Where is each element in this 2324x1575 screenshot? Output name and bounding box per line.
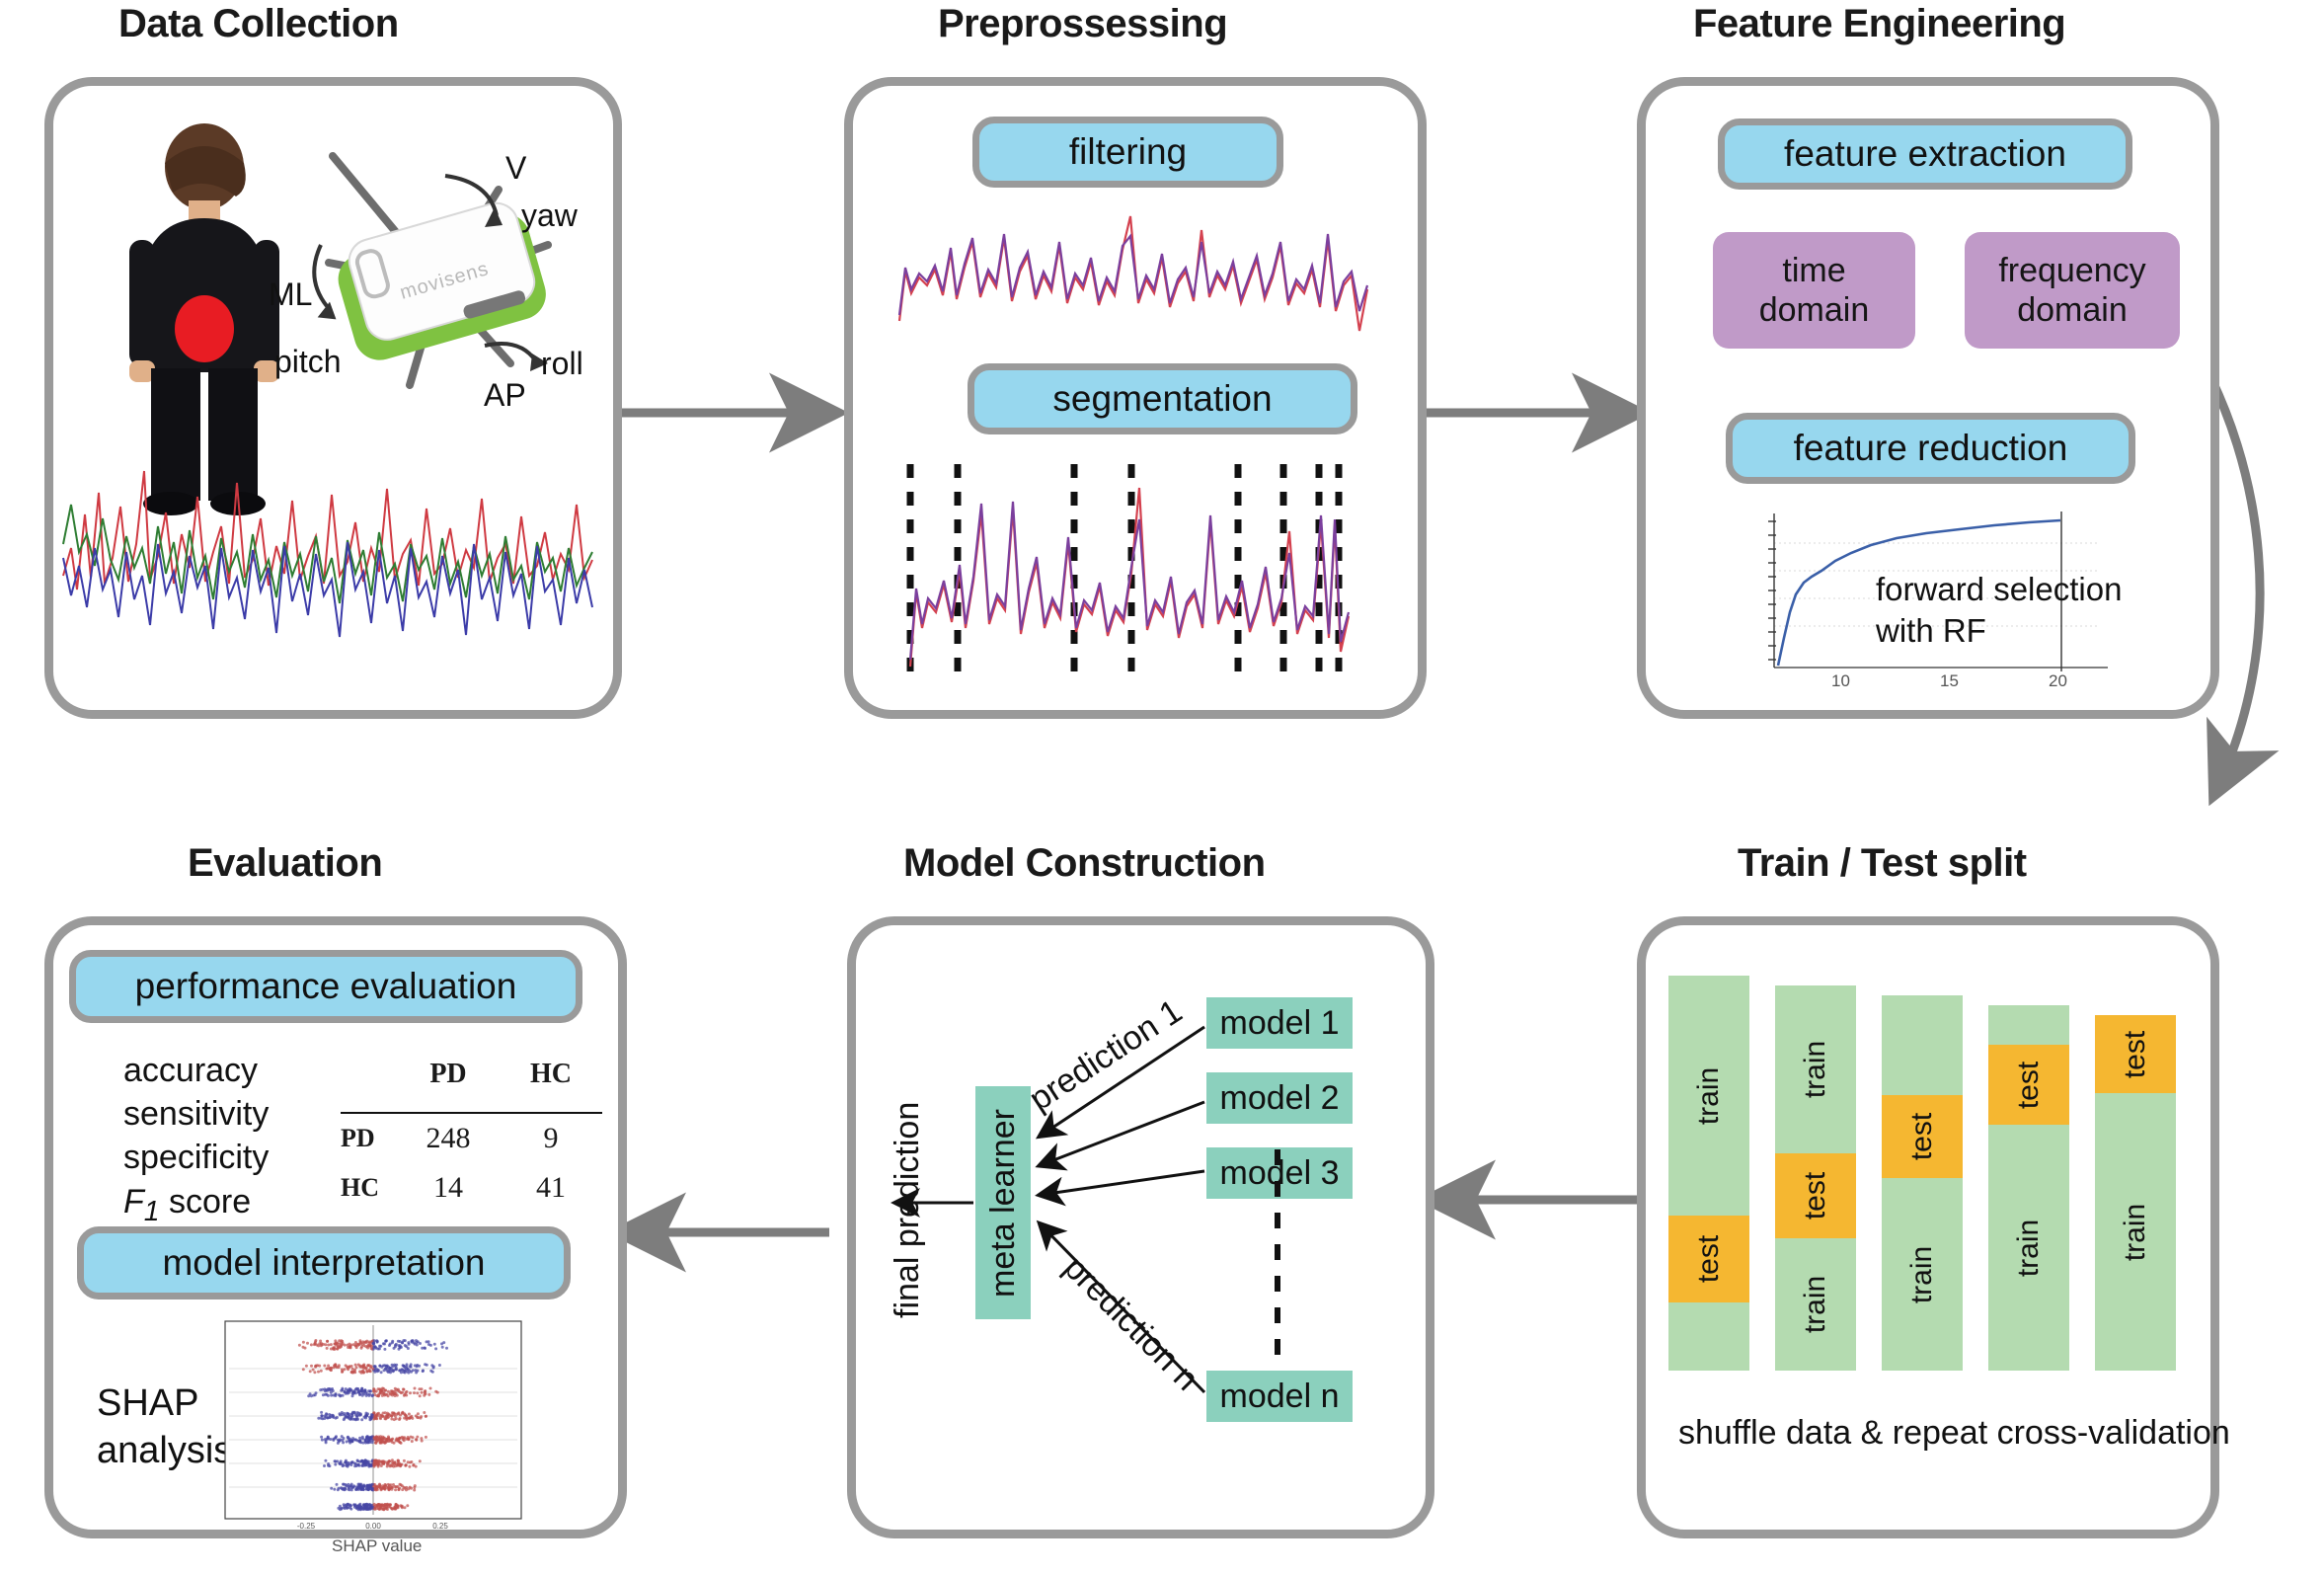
model-construction-arrows: prediction 1 prediction n [847,916,1434,1538]
metric-list: accuracy sensitivity specificity F1 scor… [123,1049,269,1229]
pill-performance-evaluation[interactable]: performance evaluation [69,950,582,1023]
svg-text:prediction n: prediction n [1056,1249,1205,1398]
shap-axis-label: SHAP value [332,1536,422,1556]
cv-segment-train [1882,995,1963,1095]
forward-selection-caption-line1: forward selection [1876,571,2122,608]
cv-segment-train: train [1668,976,1749,1216]
metric-f1-score: F1 score [123,1180,269,1230]
cv-caption: shuffle data & repeat cross-validation [1678,1414,2230,1453]
cv-segment-test: test [1668,1216,1749,1302]
segmented-signal-plot [889,454,1392,686]
box-time-domain[interactable]: time domain [1713,232,1915,349]
panel-title-feature-engineering: Feature Engineering [1693,2,2065,46]
cm-col-pd: PD [397,1059,500,1096]
table-row: PD 248 9 [341,1113,602,1163]
cv-segment-train: train [1988,1125,2069,1371]
panel-title-model-construction: Model Construction [903,841,1266,886]
axis-label-roll: roll [541,346,583,382]
pill-feature-reduction[interactable]: feature reduction [1726,413,2135,484]
xtick-15: 15 [1940,671,1959,691]
f1-suffix: score [169,1183,251,1221]
axis-label-ml: ML [269,276,312,313]
cv-segment-label: train [1799,1041,1832,1098]
cm-cell-pd-hc: 9 [500,1113,602,1163]
cross-validation-bars: traintesttraintesttraintesttraintesttrai… [1668,976,2192,1371]
metric-sensitivity: sensitivity [123,1092,269,1136]
shap-label-line2: analysis [97,1430,232,1472]
cv-segment-train: train [1775,1238,1856,1371]
axis-label-ap: AP [484,377,526,414]
cm-cell-hc-hc: 41 [500,1163,602,1213]
cv-segment-label: train [2119,1203,2152,1260]
cv-segment-train: train [1882,1178,1963,1371]
pipeline-diagram: Data Collection movisens [0,0,2324,1575]
box-frequency-domain[interactable]: frequency domain [1965,232,2180,349]
time-domain-line2: domain [1759,290,1870,330]
table-row: HC 14 41 [341,1163,602,1213]
cv-segment-test: test [1775,1153,1856,1238]
raw-signal-plot [59,449,602,686]
panel-title-evaluation: Evaluation [188,841,382,886]
svg-text:0.00: 0.00 [365,1522,381,1531]
time-domain-line1: time [1759,251,1870,290]
cv-segment-train [1988,1005,2069,1045]
cv-segment-train [1668,1302,1749,1371]
filtered-signal-plot [893,212,1387,355]
cv-fold-3: testtrain [1882,995,1963,1371]
svg-text:0.25: 0.25 [432,1522,448,1531]
panel-title-preprocessing: Preprossessing [938,2,1227,46]
cv-fold-2: traintesttrain [1775,985,1856,1371]
cv-segment-label: test [1692,1235,1726,1283]
cv-fold-1: traintest [1668,976,1749,1371]
shap-beeswarm-plot: -0.250.000.25 [225,1321,521,1534]
metric-accuracy: accuracy [123,1049,269,1092]
cv-segment-test: test [1988,1045,2069,1125]
cv-segment-label: train [1692,1066,1726,1124]
cv-segment-label: test [1799,1172,1832,1220]
cm-row-hc: HC [341,1163,397,1213]
xtick-10: 10 [1831,671,1850,691]
cv-segment-label: test [2119,1030,2152,1077]
shap-label-line1: SHAP [97,1382,198,1425]
cv-segment-label: train [1905,1245,1939,1302]
pill-filtering[interactable]: filtering [972,117,1283,188]
freq-domain-line2: domain [1998,290,2145,330]
panel-title-data-collection: Data Collection [118,2,399,46]
cv-segment-label: test [2012,1061,2046,1108]
cv-fold-5: testtrain [2095,1015,2176,1371]
pill-feature-extraction[interactable]: feature extraction [1718,118,2132,190]
cm-cell-hc-pd: 14 [397,1163,500,1213]
freq-domain-line1: frequency [1998,251,2145,290]
metric-specificity: specificity [123,1136,269,1179]
xtick-20: 20 [2049,671,2067,691]
axis-label-yaw: yaw [521,197,578,234]
cv-segment-test: test [2095,1015,2176,1093]
confusion-matrix-table: PD HC PD 248 9 HC 14 41 [341,1059,602,1213]
pill-model-interpretation[interactable]: model interpretation [77,1226,571,1299]
f1-sub: 1 [144,1195,160,1226]
f1-prefix: F [123,1183,144,1221]
cm-row-pd: PD [341,1113,397,1163]
cv-segment-label: train [1799,1276,1832,1333]
cm-cell-pd-pd: 248 [397,1113,500,1163]
forward-selection-caption-line2: with RF [1876,612,1986,650]
panel-title-train-test-split: Train / Test split [1738,841,2027,886]
cv-segment-train: train [2095,1093,2176,1371]
cv-segment-train: train [1775,985,1856,1153]
svg-text:-0.25: -0.25 [297,1522,316,1531]
axis-label-pitch: pitch [274,344,342,380]
cv-segment-label: train [2012,1219,2046,1276]
pill-segmentation[interactable]: segmentation [968,363,1357,434]
cv-segment-test: test [1882,1095,1963,1178]
axis-label-v: V [505,150,526,187]
cm-col-hc: HC [500,1059,602,1096]
cv-segment-label: test [1905,1113,1939,1160]
cv-fold-4: testtrain [1988,1005,2069,1371]
